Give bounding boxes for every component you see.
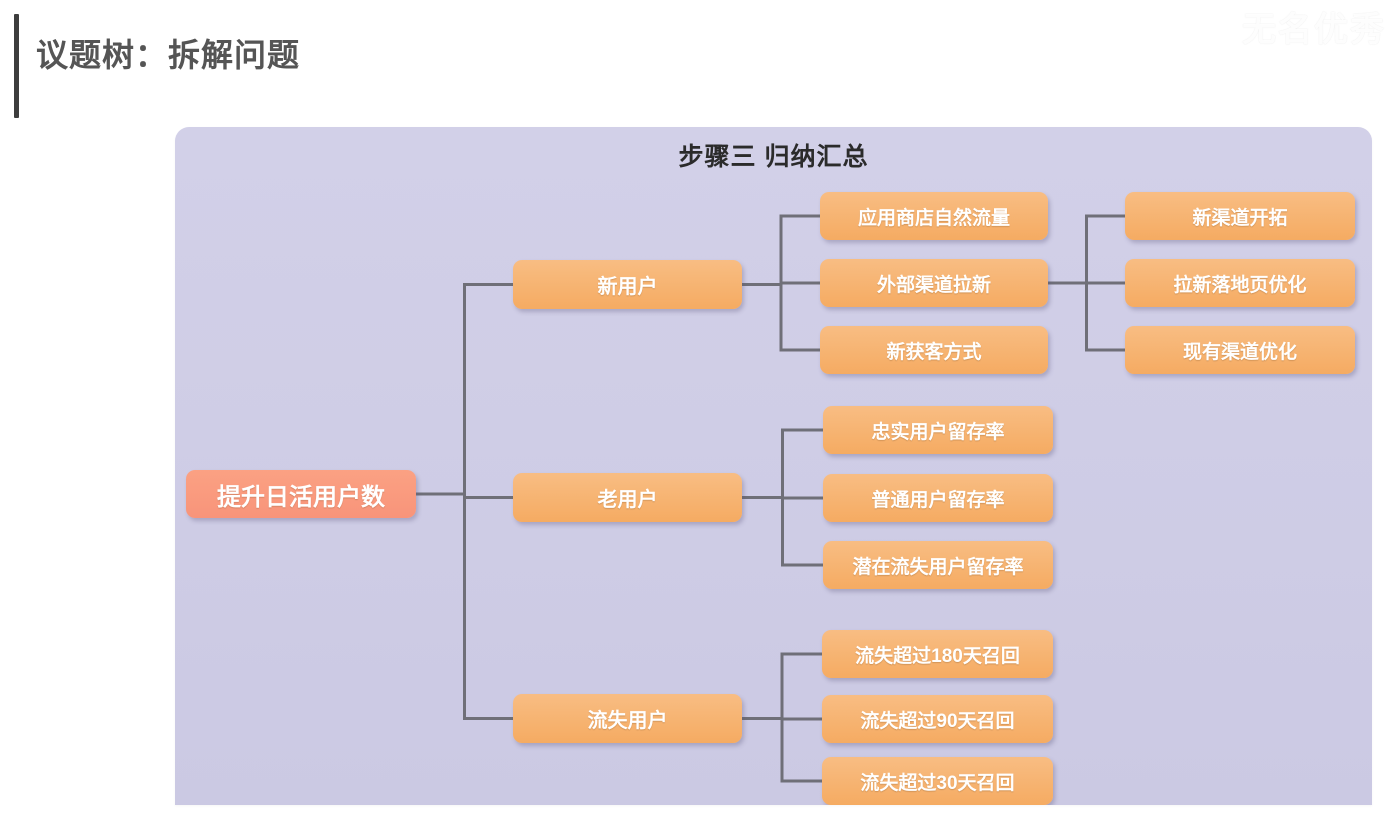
node-label: 普通用户留存率 <box>871 485 1004 512</box>
tree-node-level3-2[interactable]: 新获客方式 <box>820 326 1048 374</box>
slide-header: 议题树：拆解问题 无名优秀 <box>0 0 1394 120</box>
tree-node-level2-2[interactable]: 流失用户 <box>513 694 742 743</box>
title-accent-bar <box>14 14 19 118</box>
tree-node-level2-0[interactable]: 新用户 <box>513 260 742 309</box>
node-label: 新渠道开拓 <box>1192 203 1287 230</box>
node-label: 老用户 <box>598 483 658 512</box>
tree-node-level4-0[interactable]: 新渠道开拓 <box>1125 192 1355 240</box>
node-label: 流失超过90天召回 <box>860 706 1014 733</box>
tree-node-level4-1[interactable]: 拉新落地页优化 <box>1125 259 1355 307</box>
page-title: 议题树：拆解问题 <box>36 30 300 76</box>
tree-node-root[interactable]: 提升日活用户数 <box>186 470 416 518</box>
node-label: 应用商店自然流量 <box>858 203 1010 230</box>
tree-node-level3-3[interactable]: 忠实用户留存率 <box>823 406 1053 454</box>
node-label: 拉新落地页优化 <box>1173 270 1306 297</box>
tree-node-level2-1[interactable]: 老用户 <box>513 473 742 522</box>
tree-node-level3-7[interactable]: 流失超过90天召回 <box>822 695 1053 743</box>
node-label: 现有渠道优化 <box>1183 337 1297 364</box>
node-label: 流失用户 <box>588 704 668 733</box>
tree-node-level3-0[interactable]: 应用商店自然流量 <box>820 192 1048 240</box>
issue-tree-panel: 步骤三 归纳汇总 提升日活用户数新用户老用户流失用户应用商店自然流量外部渠道拉新… <box>175 127 1372 805</box>
tree-node-level4-2[interactable]: 现有渠道优化 <box>1125 326 1355 374</box>
node-label: 提升日活用户数 <box>217 477 385 512</box>
node-label: 流失超过30天召回 <box>860 768 1014 795</box>
watermark-text: 无名优秀 <box>1242 2 1386 51</box>
tree-node-level3-6[interactable]: 流失超过180天召回 <box>822 630 1053 678</box>
tree-node-level3-8[interactable]: 流失超过30天召回 <box>822 757 1053 805</box>
tree-node-level3-1[interactable]: 外部渠道拉新 <box>820 259 1048 307</box>
node-label: 流失超过180天召回 <box>855 641 1020 668</box>
node-label: 新获客方式 <box>886 337 981 364</box>
tree-node-level3-4[interactable]: 普通用户留存率 <box>823 474 1053 522</box>
tree-node-level3-5[interactable]: 潜在流失用户留存率 <box>823 541 1053 589</box>
node-label: 新用户 <box>598 270 658 299</box>
node-label: 忠实用户留存率 <box>871 417 1004 444</box>
node-label: 潜在流失用户留存率 <box>852 552 1023 579</box>
node-label: 外部渠道拉新 <box>877 270 991 297</box>
